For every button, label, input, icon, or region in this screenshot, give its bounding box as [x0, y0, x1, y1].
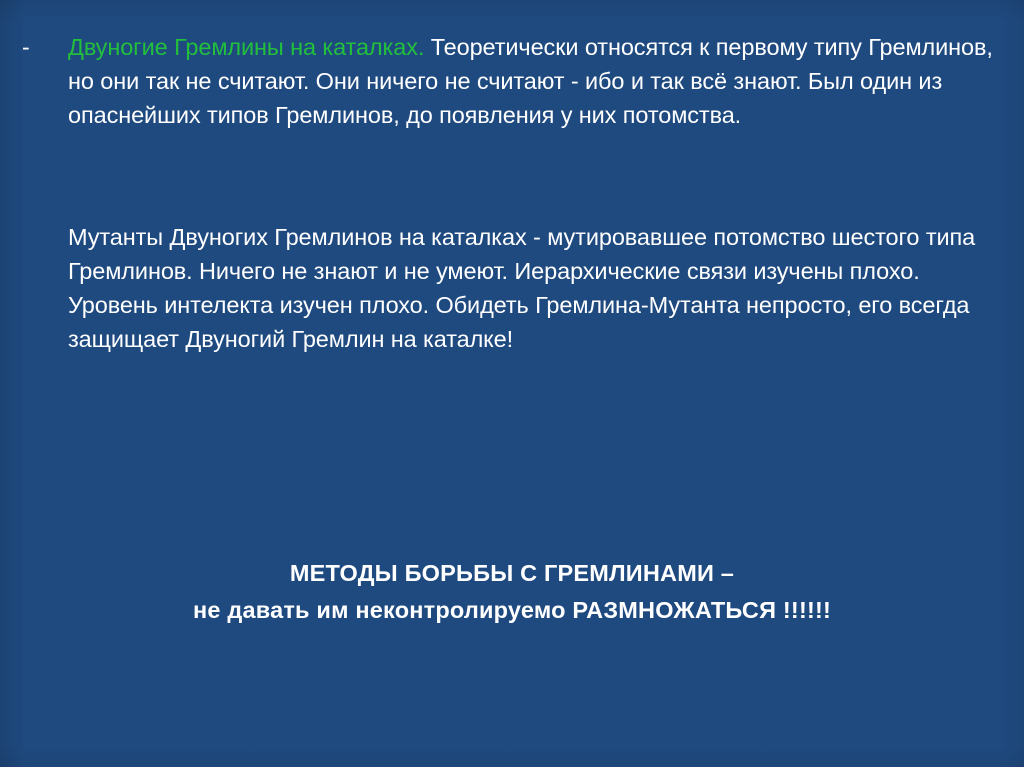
conclusion-subheading: не давать им неконтролируемо РАЗМНОЖАТЬС…	[0, 595, 1024, 626]
bullet-dash-marker: -	[22, 30, 42, 64]
paragraph-one: Двуногие Гремлины на каталках. Теоретиче…	[68, 30, 1004, 132]
slide-body-block: - Двуногие Гремлины на каталках. Теорети…	[22, 30, 1004, 132]
slide-canvas: - Двуногие Гремлины на каталках. Теорети…	[0, 0, 1024, 767]
bullet-item-bipedal-gremlins: - Двуногие Гремлины на каталках. Теорети…	[22, 30, 1004, 132]
conclusion-heading: МЕТОДЫ БОРЬБЫ С ГРЕМЛИНАМИ –	[0, 558, 1024, 589]
paragraph-one-accent-phrase: Двуногие Гремлины на каталках.	[68, 34, 424, 60]
paragraph-two-block: Мутанты Двуногих Гремлинов на каталках -…	[68, 220, 1004, 356]
conclusion-block: МЕТОДЫ БОРЬБЫ С ГРЕМЛИНАМИ – не давать и…	[0, 558, 1024, 626]
paragraph-two: Мутанты Двуногих Гремлинов на каталках -…	[68, 220, 1004, 356]
